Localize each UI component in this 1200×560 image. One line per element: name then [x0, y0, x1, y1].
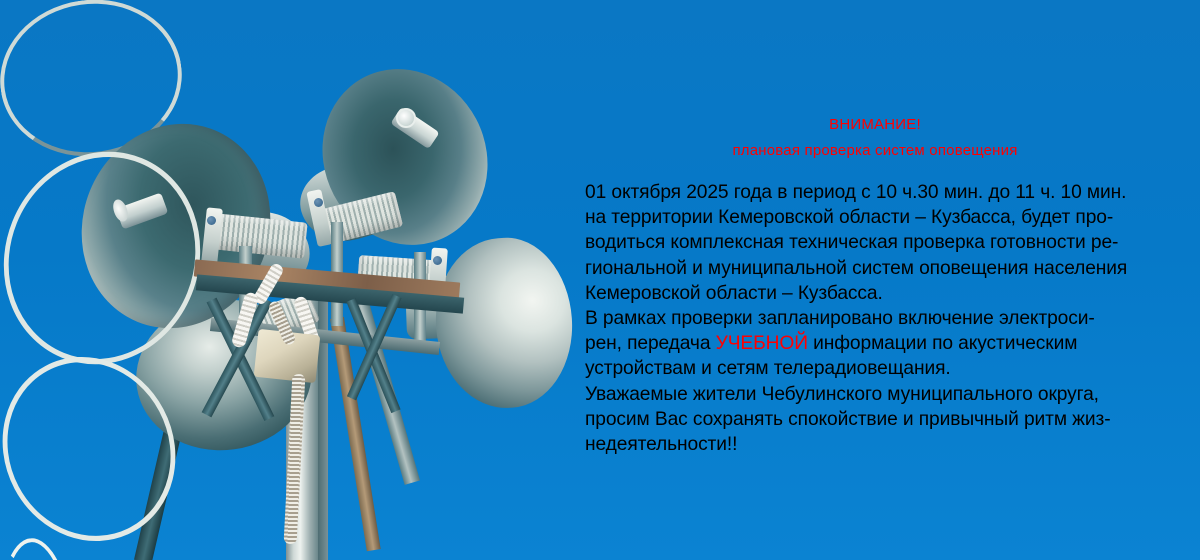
headline-line-2: плановая проверка систем оповещения [580, 138, 1170, 164]
horn-throat-cap-top-center [396, 108, 416, 128]
body-line-9: Уважаемые жители Чебулинского муниципаль… [585, 382, 1200, 407]
announcement-body: 01 октября 2025 года в период с 10 ч.30 … [585, 180, 1200, 457]
body-line-5: Кемеровской области – Кузбасса. [585, 281, 1200, 306]
body-line-1: 01 октября 2025 года в период с 10 ч.30 … [585, 180, 1200, 205]
bracket-bolt-1 [207, 216, 216, 225]
bracket-bolt-2 [314, 198, 323, 207]
horn-speaker-right [430, 233, 578, 412]
body-line-6: В рамках проверки запланировано включени… [585, 306, 1200, 331]
body-line-4: гиональной и муниципальной систем оповещ… [585, 256, 1200, 281]
highlight-after: информации по акустическим [808, 333, 1077, 354]
body-line-3: водиться комплексная техническая проверк… [585, 230, 1200, 255]
body-line-11: недеятельности!! [585, 432, 1200, 457]
body-line-7: рен, передача УЧЕБНОЙ информации по акус… [585, 331, 1200, 356]
siren-photo [0, 0, 580, 560]
body-line-2: на территории Кемеровской области – Кузб… [585, 205, 1200, 230]
headline-block: ВНИМАНИЕ! плановая проверка систем опове… [580, 112, 1170, 164]
headline-line-1: ВНИМАНИЕ! [829, 116, 921, 133]
body-line-8: устройствам и сетям телерадиовещания. [585, 356, 1200, 381]
horn-rim-right [0, 536, 80, 560]
poster-canvas: ВНИМАНИЕ! плановая проверка систем опове… [0, 0, 1200, 560]
bracket-bolt-3 [433, 256, 442, 265]
highlight-word-uchebnoy: УЧЕБНОЙ [716, 333, 808, 354]
announcement-text-panel: ВНИМАНИЕ! плановая проверка систем опове… [580, 0, 1200, 560]
highlight-before: рен, передача [585, 333, 716, 354]
body-line-10: просим Вас сохранять спокойствие и привы… [585, 407, 1200, 432]
